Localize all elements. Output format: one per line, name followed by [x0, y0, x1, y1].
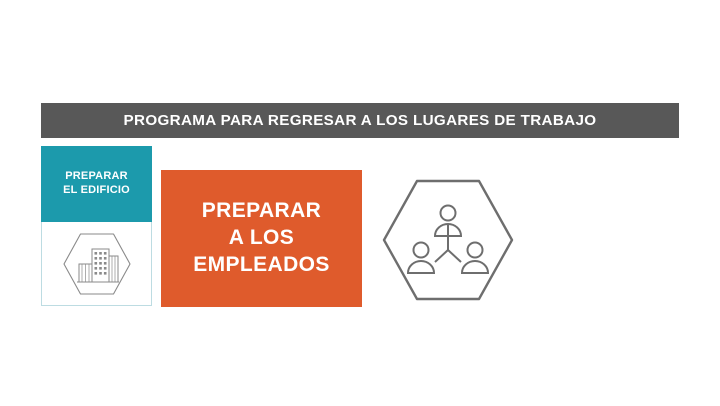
program-title-bar: PROGRAMA PARA REGRESAR A LOS LUGARES DE …: [41, 103, 679, 138]
card-prepare-building-header: PREPARAR EL EDIFICIO: [41, 146, 152, 222]
slide-canvas: PROGRAMA PARA REGRESAR A LOS LUGARES DE …: [0, 0, 720, 406]
card-prepare-employees-title-line-3: EMPLEADOS: [193, 253, 330, 276]
card-prepare-building[interactable]: PREPARAR EL EDIFICIO: [41, 146, 152, 306]
card-prepare-employees[interactable]: PREPARAR A LOS EMPLEADOS: [161, 170, 362, 307]
card-prepare-building-title-line-2: EL EDIFICIO: [63, 184, 130, 196]
people-network-hexagon-icon: [381, 178, 515, 302]
card-prepare-building-icon-panel: [41, 222, 152, 306]
page-title: PROGRAMA PARA REGRESAR A LOS LUGARES DE …: [124, 113, 597, 128]
card-prepare-employees-title-line-2: A LOS: [229, 226, 294, 249]
people-hexagon-graphic: [381, 178, 515, 302]
card-prepare-building-title: PREPARAR EL EDIFICIO: [63, 170, 130, 198]
office-buildings-hexagon-icon: [60, 231, 134, 297]
card-prepare-building-title-line-1: PREPARAR: [65, 170, 128, 182]
card-prepare-employees-title: PREPARAR A LOS EMPLEADOS: [193, 198, 330, 279]
card-prepare-employees-title-line-1: PREPARAR: [202, 199, 322, 222]
